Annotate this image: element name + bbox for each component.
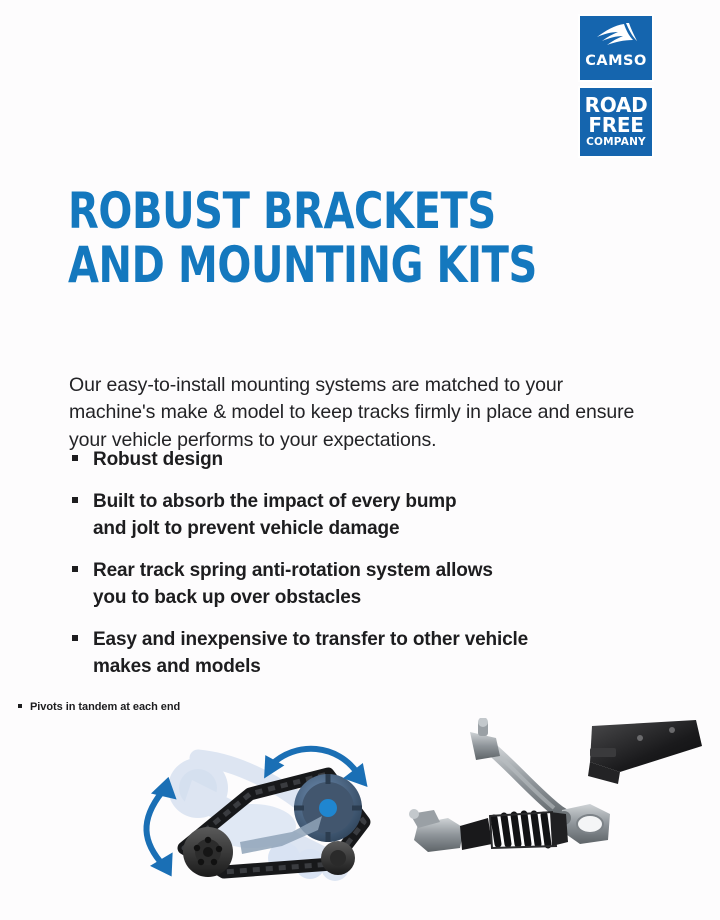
square-bullet-icon [18,704,22,708]
pivot-arrow-left [146,792,164,866]
feature-list: Robust design Built to absorb the impact… [69,446,635,681]
camso-chevron-mark [593,22,639,52]
badge-line-free: FREE [580,115,652,135]
intro-paragraph: Our easy-to-install mounting systems are… [69,372,635,455]
figure-caption: Pivots in tandem at each end [18,701,180,713]
list-item-label: Easy and inexpensive to transfer to othe… [93,626,635,681]
headline-line-2: AND MOUNTING KITS [68,241,516,290]
road-free-company-badge: ROAD FREE COMPANY [578,86,654,158]
figure-caption-label: Pivots in tandem at each end [30,701,180,713]
square-bullet-icon [72,497,78,503]
list-item: Easy and inexpensive to transfer to othe… [69,626,635,681]
mounting-bracket-hardware-photo [404,718,704,868]
square-bullet-icon [72,566,78,572]
black-angle-bracket [588,720,702,784]
list-item: Robust design [69,446,635,474]
pivot-arrow-top [270,749,358,774]
camso-wordmark: CAMSO [580,54,652,69]
coil-spring-assembly [409,809,568,852]
brand-logo-stack: CAMSO ROAD FREE COMPANY [578,14,654,158]
list-item-label: Robust design [93,446,635,474]
list-item-label: Rear track spring anti-rotation system a… [93,557,635,612]
square-bullet-icon [72,455,78,461]
headline-line-1: ROBUST BRACKETS [68,187,516,236]
figure-area [0,716,720,906]
list-item: Rear track spring anti-rotation system a… [69,557,635,612]
page-title: ROBUST BRACKETS AND MOUNTING KITS [68,187,628,290]
badge-line-company: COMPANY [580,137,652,148]
idler-wheel [183,827,233,877]
badge-line-road: ROAD [580,95,652,115]
rubber-track-system-pivot-diagram [132,730,394,890]
camso-logo-tile: CAMSO [578,14,654,82]
square-bullet-icon [72,635,78,641]
page-root: { "brand": { "logo_mark_name": "camso-ch… [0,0,720,920]
list-item-label: Built to absorb the impact of every bump… [93,488,635,543]
list-item: Built to absorb the impact of every bump… [69,488,635,543]
rear-rollers [321,841,355,875]
